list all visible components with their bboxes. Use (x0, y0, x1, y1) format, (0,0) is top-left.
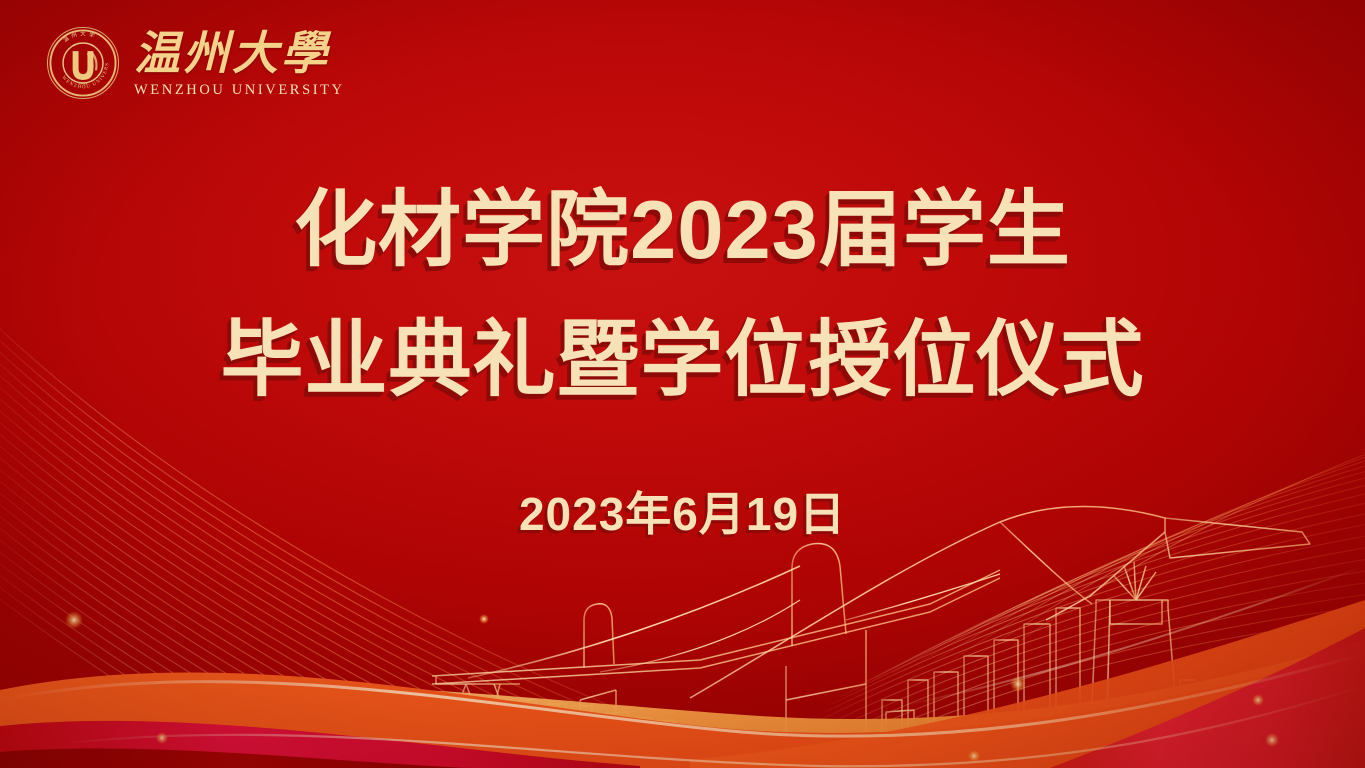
logo-wordmark-en: WENZHOU UNIVERSITY (134, 83, 345, 98)
sparkle-dot (968, 750, 980, 762)
sparkle-dot (156, 732, 168, 744)
university-logo: 温 州 大 学 WENZHOU UNIVERSITY 1933 温州大學 WEN… (46, 26, 345, 100)
headline-line-2: 毕业典礼暨学位授位仪式 (0, 306, 1365, 414)
sparkle-dot (65, 611, 83, 629)
banner-headline: 化材学院2023届学生 毕业典礼暨学位授位仪式 (0, 176, 1365, 414)
sparkle-dot (1010, 676, 1026, 692)
sparkle-dot (479, 614, 489, 624)
headline-line-1: 化材学院2023届学生 (0, 176, 1365, 284)
banner-canvas: 温州大学 (0, 0, 1365, 768)
svg-text:1933: 1933 (78, 81, 88, 86)
wenzhou-university-seal-icon: 温 州 大 学 WENZHOU UNIVERSITY 1933 (46, 26, 120, 100)
sparkle-dot (1252, 694, 1264, 706)
logo-wordmark-cn: 温州大學 (134, 31, 330, 77)
sparkle-dot (1265, 733, 1279, 747)
event-date: 2023年6月19日 (0, 478, 1365, 544)
